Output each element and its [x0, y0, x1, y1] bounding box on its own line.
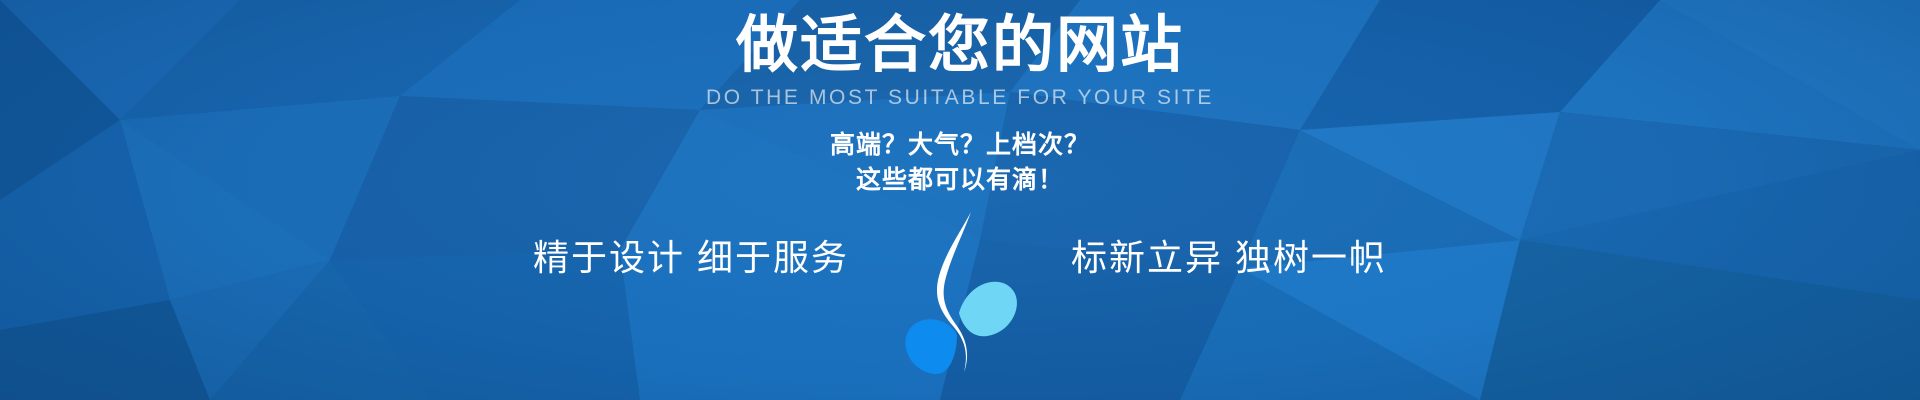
- hero-banner: 做适合您的网站 DO THE MOST SUITABLE FOR YOUR SI…: [0, 0, 1920, 400]
- tagline-line-2: 这些都可以有滴！: [0, 163, 1920, 198]
- leaf-sprout-logo: [901, 208, 1019, 376]
- leaf-sprout-logo-icon: [901, 208, 1019, 376]
- banner-title: 做适合您的网站: [0, 10, 1920, 82]
- slogan-left: 精于设计 细于服务: [533, 236, 849, 280]
- banner-tagline: 高端？大气？上档次？ 这些都可以有滴！: [0, 128, 1920, 198]
- banner-subtitle-en: DO THE MOST SUITABLE FOR YOUR SITE: [0, 86, 1920, 110]
- slogan-right: 标新立异 独树一帜: [1071, 236, 1387, 280]
- tagline-line-1: 高端？大气？上档次？: [0, 128, 1920, 163]
- slogan-row: 精于设计 细于服务 标新立异 独树一帜: [0, 218, 1920, 298]
